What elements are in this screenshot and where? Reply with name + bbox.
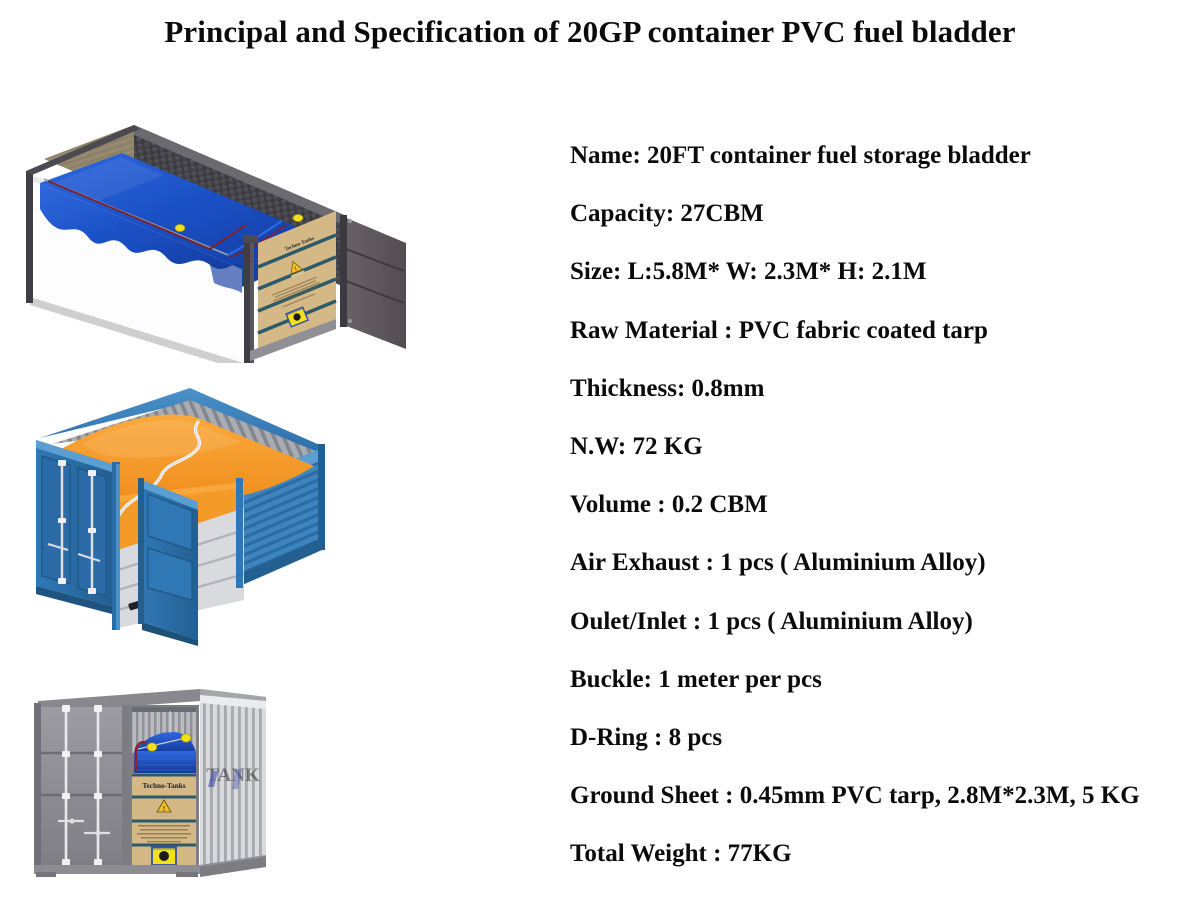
page-title: Principal and Specification of 20GP cont… xyxy=(0,14,1180,50)
spec-line-capacity: Capacity: 27CBM xyxy=(570,199,1170,257)
outlet-inlet-fitting xyxy=(293,214,303,221)
front-left-door xyxy=(34,703,129,871)
hazmat-label-icon-front xyxy=(152,847,176,865)
spec-line-raw-material: Raw Material : PVC fabric coated tarp xyxy=(570,316,1170,374)
barrier-brand-label-front: Techno-Tanks xyxy=(142,782,185,790)
spec-line-buckle: Buckle: 1 meter per pcs xyxy=(570,665,1170,723)
side-logo: TANK xyxy=(200,763,266,791)
spec-line-name: Name: 20FT container fuel storage bladde… xyxy=(570,141,1170,199)
figure-grey-container-blue-bladder: Techno-Tanks ! xyxy=(14,97,410,363)
spec-line-net-weight: N.W: 72 KG xyxy=(570,432,1170,490)
figure-grey-container-front-view: TANK xyxy=(28,675,328,881)
spec-line-size: Size: L:5.8M* W: 2.3M* H: 2.1M xyxy=(570,257,1170,315)
container-open-door xyxy=(340,215,406,349)
spec-line-outlet-inlet: Oulet/Inlet : 1 pcs ( Aluminium Alloy) xyxy=(570,607,1170,665)
container-open-door-leaf xyxy=(138,478,198,646)
barrier-panels-front: Techno-Tanks ! xyxy=(132,773,196,869)
svg-text:!: ! xyxy=(163,805,165,813)
spec-line-air-exhaust: Air Exhaust : 1 pcs ( Aluminium Alloy) xyxy=(570,548,1170,606)
spec-line-total-weight: Total Weight : 77KG xyxy=(570,839,1170,897)
spec-line-d-ring: D-Ring : 8 pcs xyxy=(570,723,1170,781)
fitting-right-icon xyxy=(181,734,191,742)
container-left-doors xyxy=(36,440,112,614)
air-exhaust-fitting xyxy=(175,224,185,231)
door-post-center xyxy=(112,462,120,630)
spec-line-volume: Volume : 0.2 CBM xyxy=(570,490,1170,548)
spec-line-ground-sheet: Ground Sheet : 0.45mm PVC tarp, 2.8M*2.3… xyxy=(570,781,1170,839)
fitting-left-icon xyxy=(147,743,157,751)
spec-line-thickness: Thickness: 0.8mm xyxy=(570,374,1170,432)
specification-list: Name: 20FT container fuel storage bladde… xyxy=(570,141,1170,897)
container-right-side-corrugated: TANK xyxy=(200,695,266,875)
figure-blue-container-orange-bladder xyxy=(22,378,362,646)
